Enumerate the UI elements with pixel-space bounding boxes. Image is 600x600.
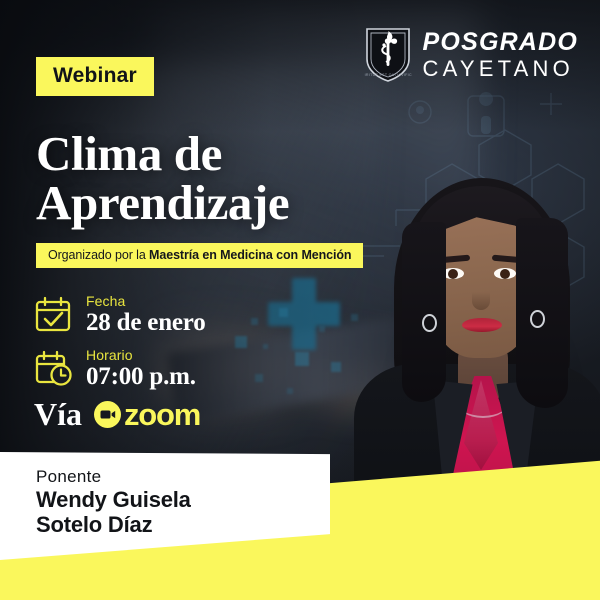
calendar-check-icon xyxy=(34,296,72,334)
portrait-hair-side-left xyxy=(402,222,446,402)
title-line-1: Clima de xyxy=(36,130,289,179)
logo-line-posgrado: POSGRADO xyxy=(423,30,578,55)
portrait-eye-right xyxy=(494,268,516,279)
date-row: Fecha 28 de enero xyxy=(34,294,206,336)
platform-row: Vía zoom xyxy=(34,398,200,430)
date-label: Fecha xyxy=(86,294,206,309)
portrait-earring-left xyxy=(422,314,437,332)
organizer-prefix: Organizado por la xyxy=(48,248,149,262)
calendar-clock-icon xyxy=(34,350,72,388)
speaker-info: Ponente Wendy Guisela Sotelo Díaz xyxy=(36,468,191,537)
speaker-name-line-1: Wendy Guisela xyxy=(36,488,191,511)
logo-line-cayetano: CAYETANO xyxy=(423,58,578,80)
speaker-name-line-2: Sotelo Díaz xyxy=(36,513,191,536)
speaker-role-label: Ponente xyxy=(36,468,191,486)
time-row: Horario 07:00 p.m. xyxy=(34,348,196,390)
zoom-video-camera-icon xyxy=(94,401,121,428)
portrait-earring-right xyxy=(530,310,545,328)
title-line-2: Aprendizaje xyxy=(36,179,289,228)
brand-logo: SPIRITUS EST QUI VIVIFICAT POSGRADO CAYE… xyxy=(364,26,578,84)
webinar-poster: SPIRITUS EST QUI VIVIFICAT POSGRADO CAYE… xyxy=(0,0,600,600)
date-value: 28 de enero xyxy=(86,309,206,337)
organizer-emphasis: Maestría en Medicina con Mención xyxy=(149,248,351,262)
zoom-logo: zoom xyxy=(94,399,200,430)
webinar-badge: Webinar xyxy=(36,57,154,96)
zoom-wordmark: zoom xyxy=(124,399,200,430)
shield-crest-caduceus-icon: SPIRITUS EST QUI VIVIFICAT xyxy=(364,26,412,84)
page-title: Clima de Aprendizaje xyxy=(36,130,289,227)
via-label: Vía xyxy=(34,398,82,430)
time-value: 07:00 p.m. xyxy=(86,363,196,391)
portrait-nose xyxy=(472,280,490,310)
organizer-banner: Organizado por la Maestría en Medicina c… xyxy=(36,243,363,268)
time-label: Horario xyxy=(86,348,196,363)
svg-text:SPIRITUS EST QUI VIVIFICAT: SPIRITUS EST QUI VIVIFICAT xyxy=(364,73,412,77)
portrait-lips xyxy=(462,318,502,332)
